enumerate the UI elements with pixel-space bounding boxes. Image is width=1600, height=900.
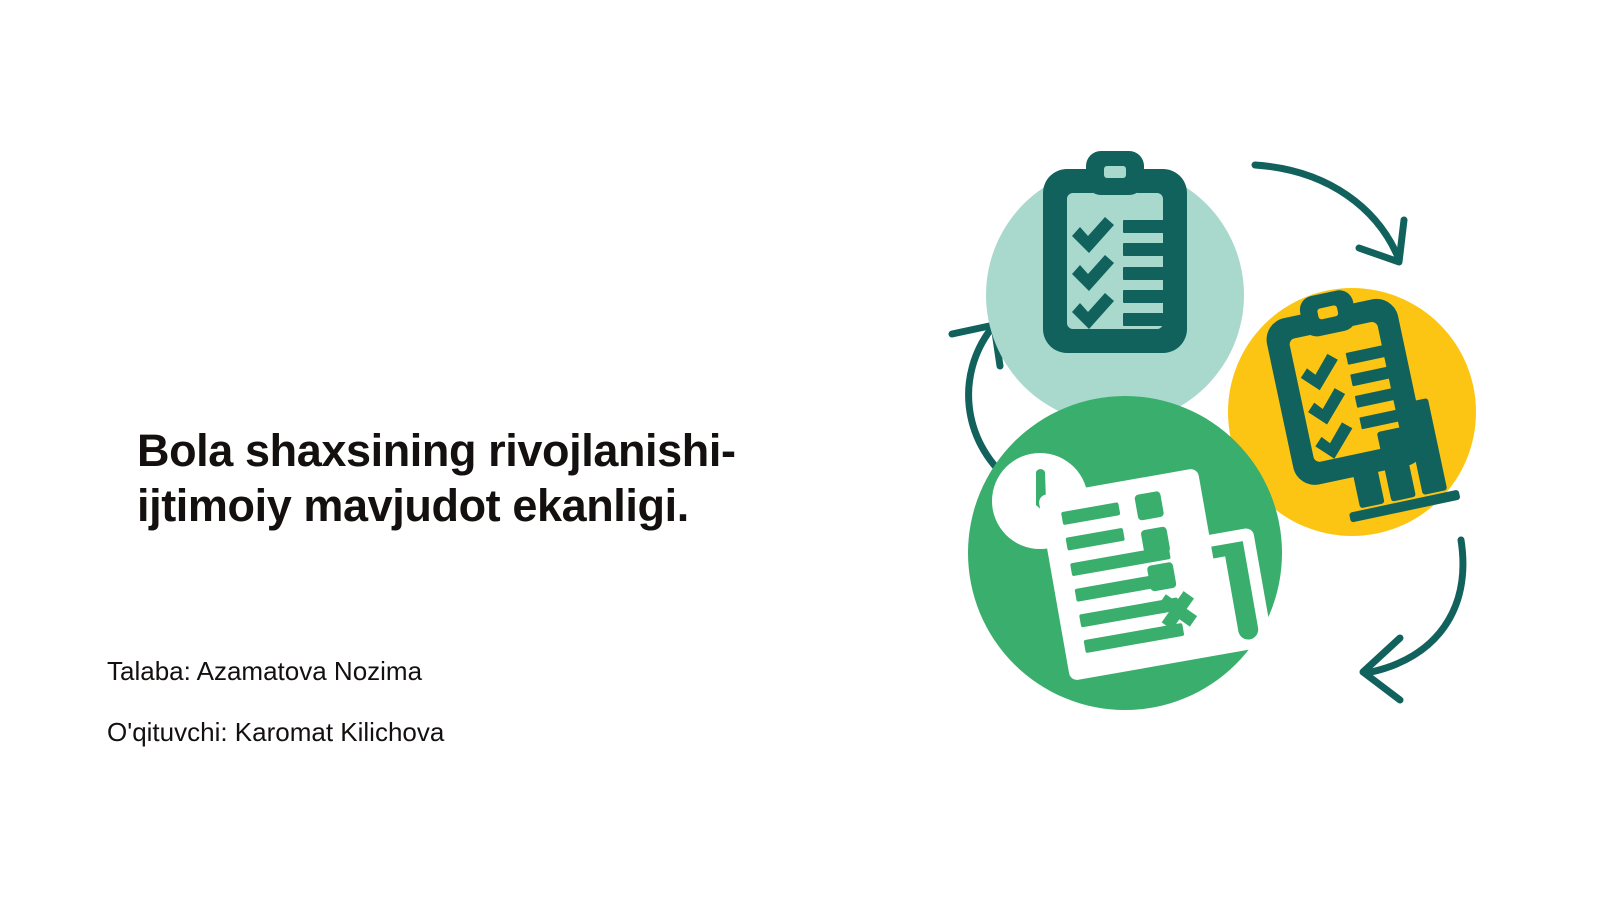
page-title: Bola shaxsining rivojlanishi-ijtimoiy ma… [137,424,837,534]
arrow-bottom-right-icon [1363,540,1463,700]
slide-canvas: Bola shaxsining rivojlanishi-ijtimoiy ma… [0,0,1600,900]
circle-mint [986,151,1244,424]
text-block: Bola shaxsining rivojlanishi-ijtimoiy ma… [0,0,880,900]
credit-student: Talaba: Azamatova Nozima [107,655,807,688]
credit-teacher: O'qituvchi: Karomat Kilichova [107,716,807,749]
credits-block: Talaba: Azamatova Nozima O'qituvchi: Kar… [107,655,807,748]
circle-green [968,396,1282,710]
arrow-top-icon [1255,165,1404,262]
illustration-graphic [900,110,1520,790]
